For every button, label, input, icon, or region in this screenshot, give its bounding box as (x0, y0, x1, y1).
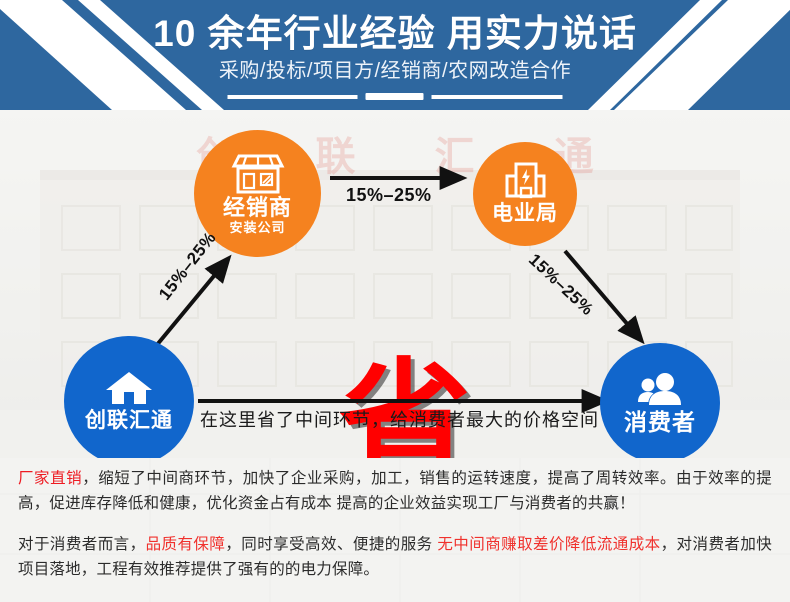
paragraph-1-body: ，缩短了中间商环节，加快了企业采购，加工，销售的运转速度，提高了周转效率。由于效… (18, 470, 772, 512)
description-paragraph-2: 对于消费者而言，品质有保障，同时享受高效、便捷的服务 无中间商赚取差价降低流通成… (18, 516, 772, 582)
node-consumer-label: 消费者 (624, 410, 696, 434)
paragraph-2-highlight-1: 品质有保障 (146, 536, 226, 553)
users-icon (636, 372, 684, 408)
power-building-icon (503, 162, 547, 200)
node-company-label: 创联汇通 (85, 409, 173, 433)
node-consumer[interactable]: 消费者 (600, 343, 720, 458)
node-power-bureau[interactable]: 电业局 (473, 142, 577, 246)
description-paragraph-1: 厂家直销，缩短了中间商环节，加快了企业采购，加工，销售的运转速度，提高了周转效率… (18, 458, 772, 516)
header-divider-rule (228, 94, 563, 99)
paragraph-2-lead: 对于消费者而言， (18, 536, 146, 553)
shop-icon (229, 152, 287, 194)
node-power-bureau-label: 电业局 (492, 202, 558, 226)
node-company[interactable]: 创联汇通 (64, 336, 194, 458)
promo-banner-page: 10 余年行业经验 用实力说话 采购/投标/项目方/经销商/农网改造合作 (0, 0, 790, 602)
house-icon (104, 369, 154, 407)
header-title: 10 余年行业经验 用实力说话 (0, 12, 790, 56)
paragraph-1-highlight: 厂家直销 (18, 470, 82, 487)
paragraph-2-highlight-2: 无中间商赚取差价降低流通成本 (437, 536, 660, 553)
edge-label-dealer-to-power: 15%–25% (346, 185, 432, 206)
divider-segment-center (366, 93, 424, 100)
paragraph-2-mid: ，同时享受高效、便捷的服务 (225, 536, 437, 553)
flow-diagram: 创 联 汇 通 省 (0, 110, 790, 458)
node-dealer-label: 经销商 (223, 196, 292, 220)
header-subtitle: 采购/投标/项目方/经销商/农网改造合作 (0, 58, 790, 84)
divider-segment-right (432, 95, 563, 99)
edge-label-company-to-consumer: 在这里省了中间环节，给消费者最大的价格空间 (200, 406, 599, 432)
divider-segment-left (228, 95, 358, 99)
node-dealer-sublabel: 安装公司 (229, 220, 285, 236)
header-banner: 10 余年行业经验 用实力说话 采购/投标/项目方/经销商/农网改造合作 (0, 0, 790, 110)
description-section: 厂家直销，缩短了中间商环节，加快了企业采购，加工，销售的运转速度，提高了周转效率… (0, 458, 790, 602)
